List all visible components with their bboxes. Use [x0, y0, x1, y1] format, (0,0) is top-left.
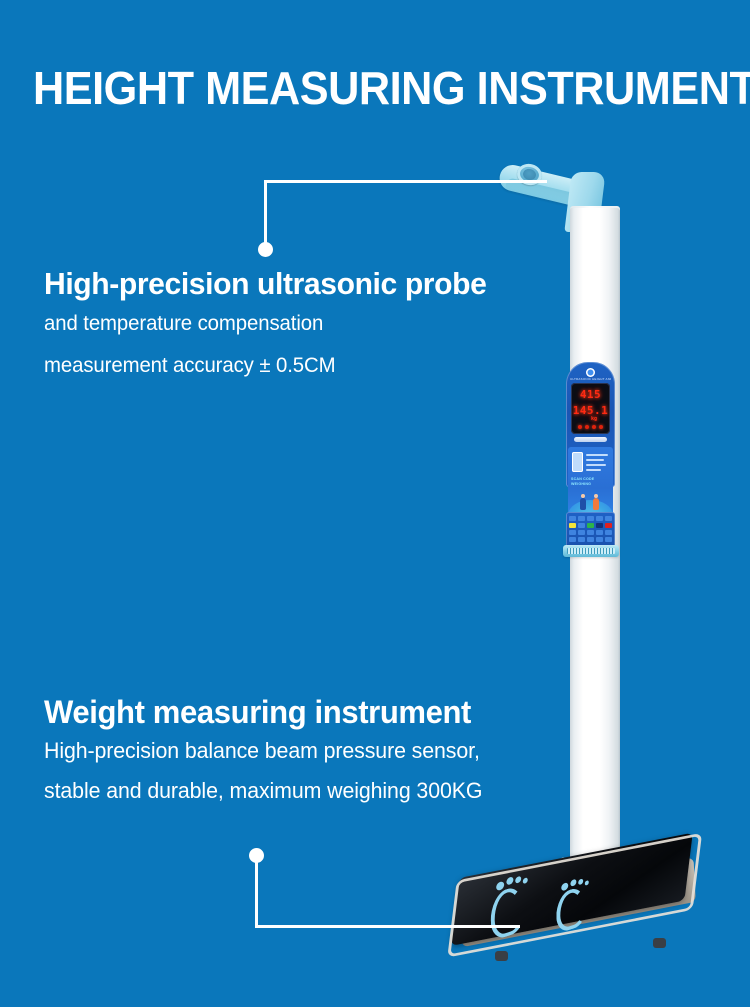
platform-foot — [653, 938, 666, 948]
leader-horizontal-segment — [255, 925, 520, 928]
info-text-line — [586, 459, 604, 461]
keypad-row — [569, 530, 612, 535]
control-panel-face: ULTRASONIC HEIGHT AND WEIGHT SCALE 415 1… — [566, 362, 615, 487]
callout-body-line: and temperature compensation — [44, 303, 486, 345]
callout-weight-instrument: Weight measuring instrument High-precisi… — [44, 693, 496, 811]
callout-body-line: stable and durable, maximum weighing 300… — [44, 771, 482, 811]
platform-foot — [495, 951, 508, 961]
callout-heading: High-precision ultrasonic probe — [44, 265, 486, 303]
smartphone-icon — [572, 452, 583, 472]
info-graphic-card: SCAN CODE WEIGHING — [568, 447, 613, 522]
keypad-row — [569, 523, 612, 528]
product-infographic: HEIGHT MEASURING INSTRUMENT ULTRASONIC H… — [0, 0, 750, 1007]
info-text-line — [586, 454, 608, 456]
person-illustration — [592, 494, 600, 514]
led-height-reading: 415 — [571, 388, 610, 401]
info-text-line — [586, 469, 601, 471]
led-status-indicators — [578, 425, 603, 430]
panel-accent-bar — [574, 437, 607, 442]
keypad-row — [569, 537, 612, 542]
leader-endpoint-dot — [249, 848, 264, 863]
speaker-grille — [563, 545, 619, 557]
person-illustration — [579, 494, 587, 514]
grille-slats — [567, 548, 615, 554]
led-display: 415 145.1 kg — [571, 383, 610, 434]
panel-brand-text: ULTRASONIC HEIGHT AND WEIGHT SCALE — [570, 377, 611, 381]
info-text-line — [586, 464, 606, 466]
callout-ultrasonic-probe: High-precision ultrasonic probe and temp… — [44, 265, 500, 387]
callout-heading: Weight measuring instrument — [44, 693, 482, 731]
callout-body-line: measurement accuracy ± 0.5CM — [44, 345, 486, 387]
info-caption-text: SCAN CODE WEIGHING — [571, 477, 597, 487]
leader-vertical-segment — [255, 862, 258, 928]
product-illustration: ULTRASONIC HEIGHT AND WEIGHT SCALE 415 1… — [0, 0, 750, 1007]
callout-body-line: High-precision balance beam pressure sen… — [44, 731, 482, 771]
keypad-row — [569, 516, 612, 521]
control-keypad — [566, 512, 615, 548]
led-unit-label: kg — [591, 416, 609, 422]
weighing-platform — [455, 855, 710, 970]
